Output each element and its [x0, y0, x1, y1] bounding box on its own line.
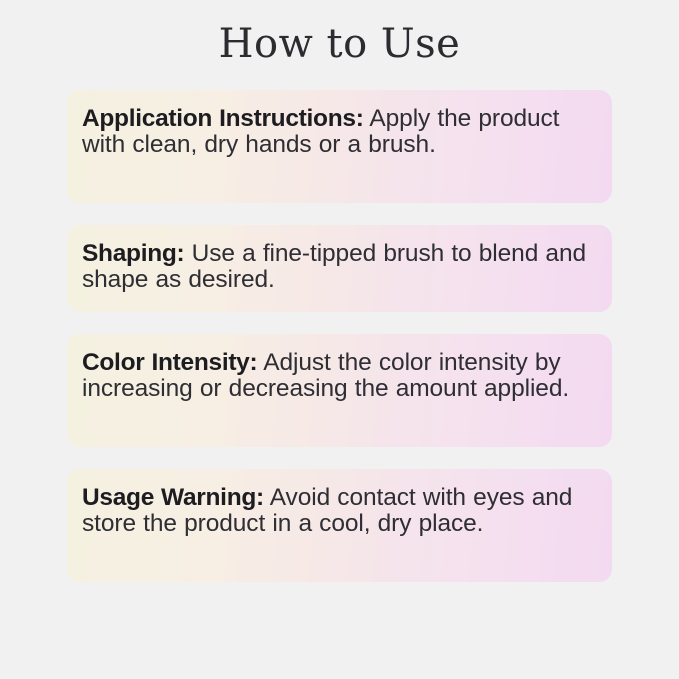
page-title: How to Use	[0, 0, 679, 64]
instruction-label: Shaping:	[82, 240, 184, 267]
instruction-label: Application Instructions:	[82, 105, 364, 132]
instruction-text: Application Instructions: Apply the prod…	[82, 106, 590, 158]
instruction-text: Usage Warning: Avoid contact with eyes a…	[82, 485, 590, 537]
instruction-label: Color Intensity:	[82, 349, 257, 376]
instruction-card: Usage Warning: Avoid contact with eyes a…	[67, 469, 612, 582]
instruction-label: Usage Warning:	[82, 484, 264, 511]
instruction-text: Color Intensity: Adjust the color intens…	[82, 350, 590, 402]
instruction-card: Color Intensity: Adjust the color intens…	[67, 334, 612, 447]
instruction-text: Shaping: Use a fine-tipped brush to blen…	[82, 241, 590, 293]
instruction-card: Shaping: Use a fine-tipped brush to blen…	[67, 225, 612, 312]
instruction-card-list: Application Instructions: Apply the prod…	[67, 90, 612, 582]
instruction-card: Application Instructions: Apply the prod…	[67, 90, 612, 203]
how-to-use-page: How to Use Application Instructions: App…	[0, 0, 679, 679]
